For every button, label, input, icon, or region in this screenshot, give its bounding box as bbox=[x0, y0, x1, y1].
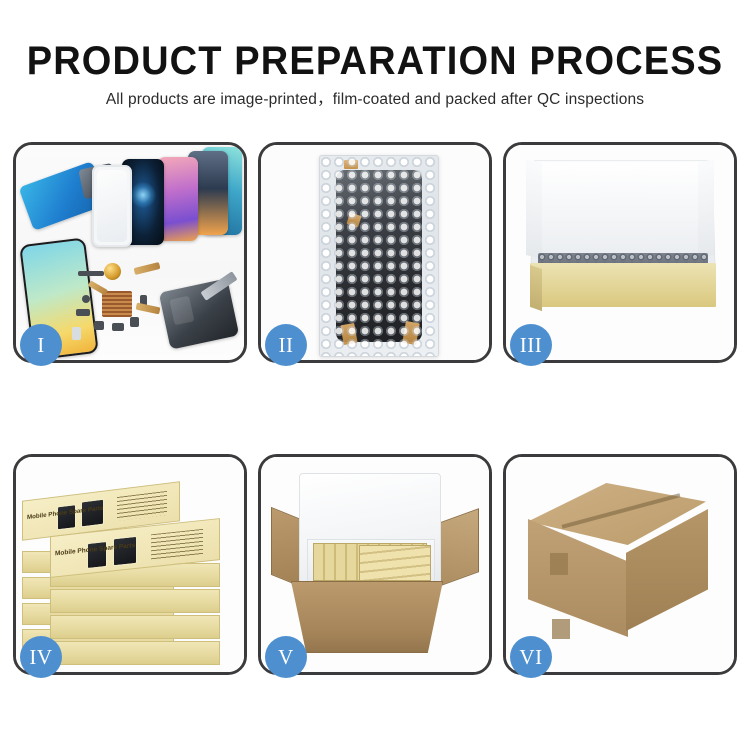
step-card-6: VI Carton sealed and ready for dispatch bbox=[503, 454, 737, 675]
product-photo-graphic bbox=[113, 536, 137, 567]
page-title: PRODUCT PREPARATION PROCESS bbox=[19, 38, 732, 84]
header: PRODUCT PREPARATION PROCESS All products… bbox=[0, 38, 750, 110]
step-card-3: III Wrapped units placed into a kraft in… bbox=[503, 142, 737, 363]
part-graphic bbox=[72, 327, 81, 340]
part-graphic bbox=[78, 271, 104, 276]
box-lid-flap-left-graphic bbox=[526, 159, 542, 259]
box-lid-flap-right-graphic bbox=[698, 159, 714, 259]
step-card-2: II Single screen wrapped in bubble film … bbox=[258, 142, 492, 363]
phone-back-housing-graphic bbox=[159, 278, 240, 349]
carton-tape-tab-graphic bbox=[550, 553, 568, 575]
carton-body-graphic bbox=[291, 581, 443, 653]
part-graphic bbox=[76, 309, 90, 316]
gold-chip-graphic bbox=[104, 263, 121, 280]
carton-tape-tab-graphic bbox=[552, 619, 570, 639]
box-label-lines-graphic bbox=[151, 529, 203, 560]
process-step-grid: I Mobile phone LCD screens, glass panels… bbox=[13, 142, 737, 675]
step-badge-3: III bbox=[510, 324, 552, 366]
step-badge-4: IV bbox=[20, 636, 62, 678]
step-badge-2: II bbox=[265, 324, 307, 366]
step-badge-5: V bbox=[265, 636, 307, 678]
step-card-1: I Mobile phone LCD screens, glass panels… bbox=[13, 142, 247, 363]
step-badge-1: I bbox=[20, 324, 62, 366]
kraft-box-graphic bbox=[50, 589, 220, 613]
step-card-4: Mobile Phone Spare Parts Mobile Phone Sp… bbox=[13, 454, 247, 675]
box-tray-graphic bbox=[530, 263, 716, 307]
kraft-box-graphic bbox=[50, 641, 220, 665]
step-badge-6: VI bbox=[510, 636, 552, 678]
inner-boxes-graphic bbox=[359, 545, 431, 581]
infographic-page: PRODUCT PREPARATION PROCESS All products… bbox=[0, 0, 750, 750]
part-graphic bbox=[130, 317, 139, 327]
box-label-lines-graphic bbox=[117, 491, 167, 521]
bubble-texture-graphic bbox=[320, 156, 438, 356]
part-graphic bbox=[112, 323, 124, 331]
page-subtitle: All products are image-printed，film-coat… bbox=[0, 90, 750, 110]
kraft-box-graphic bbox=[50, 615, 220, 639]
flex-cable-graphic bbox=[134, 262, 161, 275]
glass-panel-graphic bbox=[92, 165, 132, 247]
bubble-bag-graphic bbox=[319, 155, 439, 357]
part-graphic bbox=[94, 321, 104, 330]
step-card-5: V Boxes loaded into a foam-lined shippin… bbox=[258, 454, 492, 675]
box-tray-side-graphic bbox=[530, 265, 542, 311]
part-graphic bbox=[82, 295, 90, 303]
connector-grid-graphic bbox=[102, 291, 132, 317]
box-stack-graphic: Mobile Phone Spare Parts Mobile Phone Sp… bbox=[22, 475, 244, 661]
phone-purple-graphic bbox=[158, 157, 198, 241]
flex-cable-graphic bbox=[136, 303, 161, 315]
